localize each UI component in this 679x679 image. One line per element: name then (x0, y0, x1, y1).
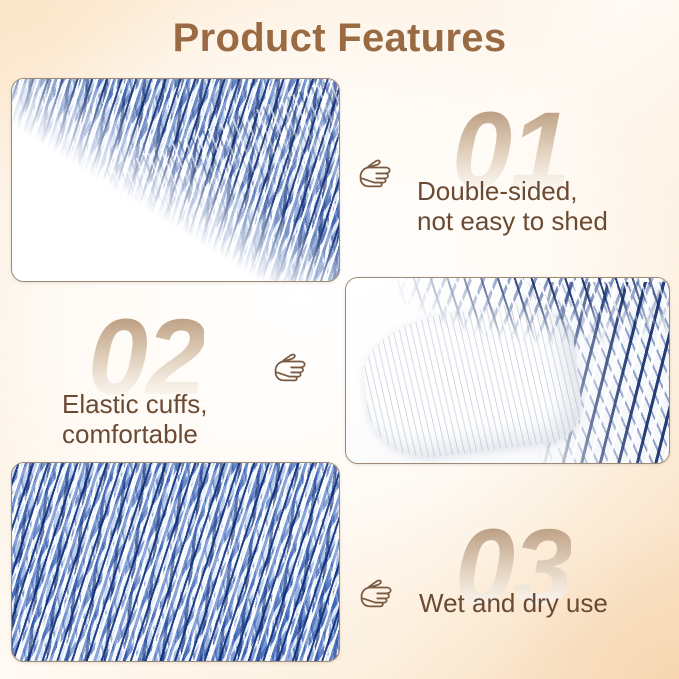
feature-photo-2 (345, 277, 670, 464)
page-title: Product Features (0, 16, 679, 61)
feature-caption-1: Double-sided, not easy to shed (417, 176, 608, 236)
pointing-hand-right-icon (273, 352, 313, 386)
feature-photo-2-image (346, 278, 669, 463)
feature-photo-1 (11, 78, 340, 282)
infographic-canvas: Product Features 01 Doubl (0, 0, 679, 679)
fabric-white-backdrop (12, 79, 339, 281)
pointing-hand-right-icon (358, 158, 398, 192)
pointing-hand-right-icon (359, 578, 399, 612)
feature-photo-3-image (12, 463, 339, 661)
feature-caption-2: Elastic cuffs, comfortable (62, 389, 207, 449)
chenille-fringe-top (385, 278, 669, 348)
feature-photo-1-image (12, 79, 339, 281)
chenille-texture-dense (12, 463, 339, 661)
feature-photo-3 (11, 462, 340, 662)
feature-caption-3: Wet and dry use (419, 588, 608, 618)
